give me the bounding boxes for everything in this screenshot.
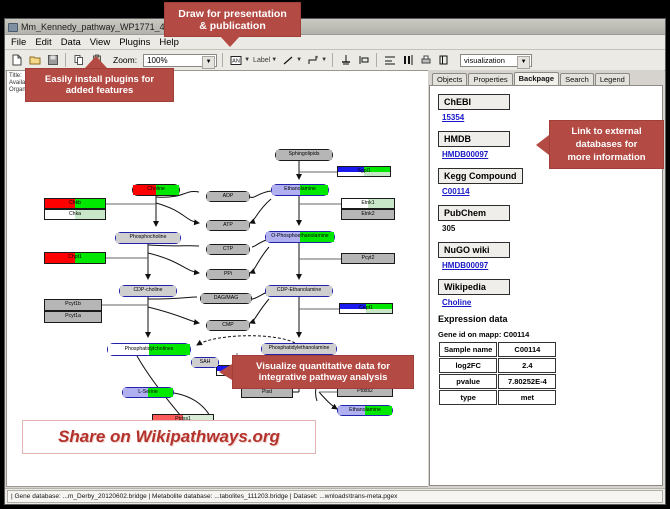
open-folder-icon[interactable] — [27, 53, 42, 68]
table-cell-key: log2FC — [439, 358, 497, 373]
node-label: Sphingolipids — [289, 152, 320, 157]
svg-text:AN: AN — [232, 58, 240, 64]
callout-links-line3: more information — [567, 151, 645, 164]
db-header-wikipedia: Wikipedia — [438, 279, 510, 295]
callout-share-text: Share on Wikipathways.org — [58, 427, 280, 447]
node-label: O-Phosphoethanolamine — [271, 234, 328, 239]
callout-links-line2: databases for — [576, 138, 638, 151]
callout-links: Link to external databases for more info… — [549, 120, 664, 169]
menu-item-view[interactable]: View — [89, 37, 111, 48]
db-link-kegg-compound[interactable]: C00114 — [442, 187, 662, 196]
menu-bar: File Edit Data View Plugins Help — [5, 35, 665, 50]
callout-draw-arrow — [219, 35, 241, 47]
callout-plugins: Easily install plugins for added feature… — [25, 68, 174, 102]
table-cell-key: Sample name — [439, 342, 497, 357]
status-bar: | Gene database: ...m_Derby_20120602.bri… — [5, 488, 665, 504]
table-row: Sample nameC00114 — [439, 342, 556, 357]
metabolite-node-sphingolipids[interactable]: Sphingolipids — [275, 149, 333, 161]
node-label: Cept1 — [359, 306, 373, 311]
table-cell-value: 2.4 — [498, 358, 556, 373]
label-tool[interactable]: Label▼ — [253, 57, 277, 64]
datanode-icon[interactable]: AN — [228, 53, 243, 68]
callout-visualize-line2: integrative pathway analysis — [259, 372, 388, 384]
layout-icon[interactable] — [436, 53, 451, 68]
menu-item-help[interactable]: Help — [158, 37, 180, 48]
node-label: Etnk1 — [361, 201, 374, 206]
menu-item-file[interactable]: File — [10, 37, 27, 48]
node-label: Pcyt1b — [65, 302, 81, 307]
metabolite-node-ethanolamine-bottom[interactable]: Ethanolamine — [337, 405, 393, 416]
menu-item-plugins[interactable]: Plugins — [118, 37, 151, 48]
db-link-nugo-wiki[interactable]: HMDB00097 — [442, 261, 662, 270]
metabolite-node-sah[interactable]: SAH — [191, 357, 219, 368]
chevron-down-icon-label[interactable]: ▼ — [271, 57, 277, 63]
node-label: SAH — [200, 360, 211, 365]
tab-search[interactable]: Search — [560, 73, 594, 85]
table-row: pvalue7.80252E-4 — [439, 374, 556, 389]
new-file-icon[interactable] — [9, 53, 24, 68]
gene-node-pcyt1b[interactable]: Pcyt1b — [44, 299, 102, 311]
gene-node-sgpl1[interactable]: Sgpl1 — [337, 166, 391, 177]
table-cell-key: type — [439, 390, 497, 405]
menu-item-data[interactable]: Data — [60, 37, 82, 48]
metabolite-node-ethanolamine[interactable]: Ethanolamine — [271, 184, 329, 196]
gene-node-cept1[interactable]: Cept1 — [339, 303, 393, 314]
line-icon[interactable] — [280, 53, 295, 68]
node-label: Chka — [69, 212, 81, 217]
toolbar-divider-4 — [376, 53, 377, 67]
db-header-chebi: ChEBI — [438, 94, 510, 110]
datanode-tool[interactable]: AN ▼ — [228, 53, 250, 68]
app-icon — [8, 22, 17, 31]
node-label: Phosphocholine — [130, 235, 167, 240]
metabolite-node-o-phosphoethanolamine[interactable]: O-Phosphoethanolamine — [265, 231, 335, 243]
node-label: CDP-choline — [133, 288, 162, 293]
line-tool[interactable]: ▼ — [280, 53, 302, 68]
metabolite-node-phosphocholine[interactable]: Phosphocholine — [115, 232, 181, 244]
zoom-combobox[interactable]: 100% ▼ — [143, 54, 217, 67]
visualization-value: visualization — [464, 56, 505, 65]
callout-share: Share on Wikipathways.org — [22, 420, 316, 454]
connector-tool[interactable]: ▼ — [305, 53, 327, 68]
metabolite-node-phosphatidylethanolamine[interactable]: Phosphatidylethanolamine — [261, 343, 337, 355]
db-header-hmdb: HMDB — [438, 131, 510, 147]
node-label: Pcyt1a — [65, 314, 81, 319]
expression-table: Sample nameC00114log2FC2.4pvalue7.80252E… — [438, 341, 557, 406]
table-row: typemet — [439, 390, 556, 405]
callout-visualize-line1: Visualize quantitative data for — [256, 361, 390, 373]
metabolite-node-adp[interactable]: ADP — [206, 191, 250, 202]
gene-node-chka[interactable]: Chka — [44, 209, 106, 220]
node-label: Phosphatidylcholines — [125, 347, 174, 352]
anchor-icon[interactable] — [338, 53, 353, 68]
node-label: CDP-Ethanolamine — [277, 288, 321, 293]
callout-plugins-line1: Easily install plugins for — [45, 74, 154, 86]
callout-plugins-line2: added features — [66, 85, 134, 97]
chevron-down-icon[interactable]: ▼ — [202, 56, 215, 69]
table-cell-key: pvalue — [439, 374, 497, 389]
metabolite-node-dagmag[interactable]: DAG/MAG — [200, 293, 252, 304]
node-label: Choline — [147, 187, 165, 192]
table-cell-value: C00114 — [498, 342, 556, 357]
gene-node-pcyt2[interactable]: Pcyt2 — [341, 253, 395, 264]
tab-properties[interactable]: Properties — [468, 73, 512, 85]
save-icon[interactable] — [45, 53, 60, 68]
metabolite-node-ctp[interactable]: CTP — [206, 244, 250, 255]
metabolite-node-cmp[interactable]: CMP — [206, 320, 250, 331]
expression-data-title: Expression data — [438, 314, 662, 324]
connector-icon[interactable] — [305, 53, 320, 68]
metabolite-node-ppi[interactable]: PPi — [206, 269, 250, 280]
node-label: DAG/MAG — [214, 296, 239, 301]
tab-objects[interactable]: Objects — [432, 73, 467, 85]
align-left-icon[interactable] — [356, 53, 371, 68]
node-label: PPi — [224, 272, 232, 277]
metabolite-node-phosphatidylcholines[interactable]: Phosphatidylcholines — [107, 343, 191, 356]
gene-node-chpt1[interactable]: Chpt1 — [44, 252, 106, 264]
node-label: Ptdss2 — [357, 389, 373, 394]
node-label: ATP — [223, 223, 233, 228]
node-label: Phosphatidylethanolamine — [269, 346, 330, 351]
callout-links-line1: Link to external — [571, 125, 641, 138]
metabolite-node-cdp-choline[interactable]: CDP-choline — [119, 285, 177, 297]
node-label: L-Serine — [138, 390, 158, 395]
node-label: Etnk2 — [361, 212, 374, 217]
gene-node-chkb[interactable]: Chkb — [44, 198, 106, 209]
status-text: | Gene database: ...m_Derby_20120602.bri… — [7, 490, 663, 503]
db-header-kegg-compound: Kegg Compound — [438, 168, 523, 184]
node-label: Ethanolamine — [284, 187, 316, 192]
node-label: Pisd — [262, 390, 272, 395]
gene-node-etnk1[interactable]: Etnk1 — [341, 198, 395, 209]
metabolite-node-atp[interactable]: ATP — [206, 220, 250, 231]
copy-icon[interactable] — [71, 53, 86, 68]
node-label: Sgpl1 — [357, 169, 370, 174]
db-link-wikipedia[interactable]: Choline — [442, 298, 662, 307]
tab-legend[interactable]: Legend — [595, 73, 630, 85]
title-bar: Mm_Kennedy_pathway_WP1771_45176.gpml — [5, 19, 665, 35]
toolbar-divider-3 — [332, 53, 333, 67]
callout-links-arrow — [536, 135, 549, 155]
node-label: Pcyt2 — [362, 256, 375, 261]
gene-node-etnk2[interactable]: Etnk2 — [341, 209, 395, 220]
label-tool-text: Label — [253, 57, 270, 64]
db-header-pubchem: PubChem — [438, 205, 510, 221]
toolbar-divider — [65, 53, 66, 67]
node-label: Chpt1 — [68, 255, 82, 260]
menu-item-edit[interactable]: Edit — [34, 37, 52, 48]
db-header-nugo-wiki: NuGO wiki — [438, 242, 510, 258]
table-row: log2FC2.4 — [439, 358, 556, 373]
print-icon[interactable] — [418, 53, 433, 68]
chevron-down-icon-line[interactable]: ▼ — [296, 57, 302, 63]
visualization-combobox[interactable]: visualization ▼ — [460, 54, 532, 67]
callout-draw: Draw for presentation & publication — [164, 2, 301, 37]
metabolite-node-l-serine-left[interactable]: L-Serine — [122, 387, 174, 398]
table-cell-value: met — [498, 390, 556, 405]
table-cell-value: 7.80252E-4 — [498, 374, 556, 389]
metabolite-node-choline-top[interactable]: Choline — [132, 184, 180, 196]
zoom-label: Zoom: — [113, 55, 137, 65]
zoom-value: 100% — [147, 56, 167, 65]
callout-draw-line1: Draw for presentation — [178, 8, 287, 20]
chevron-down-icon-connector[interactable]: ▼ — [321, 57, 327, 63]
node-label: CMP — [222, 323, 234, 328]
callout-draw-line2: & publication — [199, 20, 266, 32]
side-panel-tabs: ObjectsPropertiesBackpageSearchLegend — [428, 70, 664, 85]
chevron-down-icon-datanode[interactable]: ▼ — [244, 57, 250, 63]
gene-node-pcyt1a[interactable]: Pcyt1a — [44, 311, 102, 323]
callout-visualize: Visualize quantitative data for integrat… — [232, 355, 414, 389]
node-label: Chkb — [69, 201, 81, 206]
toolbar-divider-2 — [222, 53, 223, 67]
node-label: Ethanolamine — [349, 408, 381, 413]
callout-plugins-arrow — [85, 56, 107, 68]
callout-visualize-arrow — [219, 364, 232, 380]
tab-backpage[interactable]: Backpage — [514, 72, 559, 85]
metabolite-node-cdp-ethanolamine[interactable]: CDP-Ethanolamine — [265, 285, 333, 297]
gene-id-line: Gene id on mapp: C00114 — [438, 330, 662, 339]
chevron-down-icon-visualization[interactable]: ▼ — [517, 56, 530, 69]
node-label: CTP — [223, 247, 233, 252]
distribute-vertical-icon[interactable] — [400, 53, 415, 68]
db-value-pubchem: 305 — [442, 224, 662, 233]
distribute-horizontal-icon[interactable] — [382, 53, 397, 68]
node-label: ADP — [223, 194, 234, 199]
